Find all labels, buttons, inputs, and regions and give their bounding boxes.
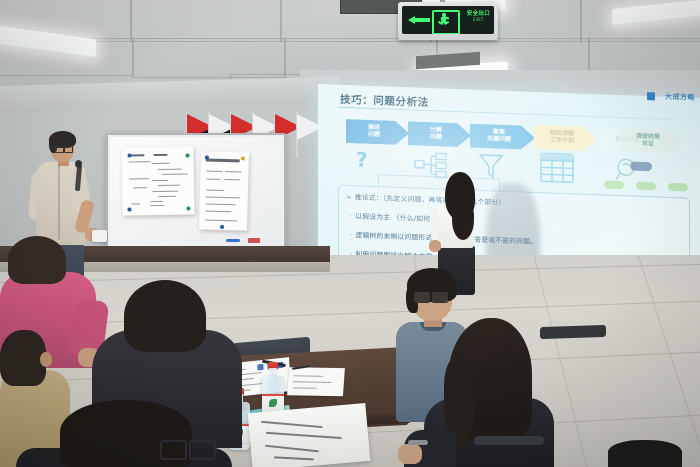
attendee-foreground-glasses-icon <box>160 440 216 456</box>
attendee-black-bracelet <box>408 440 428 445</box>
presentation-remote <box>92 230 107 242</box>
whiteboard-marker <box>226 239 240 242</box>
whiteboard-eraser <box>248 238 260 243</box>
whiteboard-note-left <box>121 146 194 215</box>
flag-row <box>186 112 312 120</box>
attendee-tan-ear <box>40 352 52 367</box>
exit-sign-panel: 安全出口 EXIT <box>402 6 494 34</box>
exit-sign-text: 安全出口 EXIT <box>467 12 490 22</box>
exit-arrow-icon <box>408 16 430 24</box>
microphone-head <box>75 160 82 168</box>
whiteboard <box>106 133 286 253</box>
attendee-blue-glasses-icon <box>414 292 448 301</box>
speaker-hair-back <box>452 200 474 240</box>
running-man-icon <box>438 13 450 29</box>
speaker-hand <box>429 240 441 252</box>
speaker-box <box>540 325 606 339</box>
whiteboard-note-right <box>199 151 249 230</box>
attendee-dark-hair <box>124 280 206 352</box>
attendee-bottom-right-hair <box>608 440 682 467</box>
chair-armrest-right <box>474 436 544 445</box>
training-room-photo: 安全出口 EXIT <box>0 0 700 467</box>
attendee-pink-hair <box>8 236 66 284</box>
attendee-black-hand <box>398 444 422 464</box>
paper-sheet-right <box>287 367 345 396</box>
presenter-glasses-icon <box>55 146 73 151</box>
exit-text-en: EXIT <box>467 18 490 22</box>
handout-worksheet <box>248 403 371 467</box>
emergency-exit-sign: 安全出口 EXIT <box>398 2 498 40</box>
